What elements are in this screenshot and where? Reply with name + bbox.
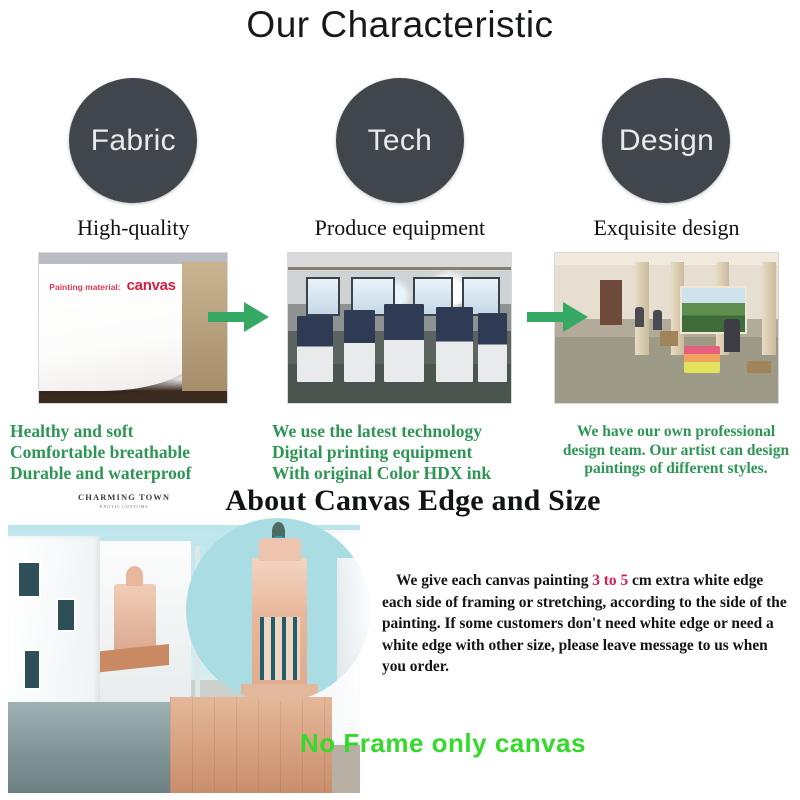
feature-description-tech: We use the latest technology Digital pri…: [272, 421, 540, 484]
no-frame-note: No Frame only canvas: [300, 728, 586, 759]
studio-artist-1: [635, 307, 644, 327]
promo-page: Our Characteristic Fabric High-quality P…: [0, 0, 800, 800]
studio-stool-2: [747, 361, 772, 373]
bubble-label-design: Design: [619, 124, 714, 158]
inset-tower-columns: [260, 617, 300, 680]
inset-right-building: [337, 558, 370, 702]
section2-header: CHARMING TOWN EXOTIC CUSTOMS About Canva…: [0, 484, 800, 524]
canvas-label-prefix: Painting material:: [49, 282, 120, 292]
edge-size-highlight: 3 to 5: [592, 572, 628, 589]
studio-pillar-4: [762, 262, 775, 355]
printer-machine-5: [478, 313, 507, 382]
arrow-right-icon-2: [527, 300, 589, 334]
canvas-edge-paragraph: We give each canvas painting 3 to 5 cm e…: [382, 570, 794, 678]
street-window-a: [17, 561, 41, 599]
printer-machine-4: [436, 307, 474, 382]
canvas-material-photo: Painting material: canvas: [38, 252, 228, 404]
printer-machine-2: [344, 310, 375, 382]
feature-description-design: We have our own professional design team…: [556, 423, 796, 479]
feature-caption-design: Exquisite design: [593, 215, 739, 241]
studio-doorway-shape: [600, 280, 622, 325]
ceiling-beam-shape: [288, 267, 511, 270]
studio-stool-1: [660, 331, 678, 346]
printer-machine-1: [297, 316, 333, 382]
page-title: Our Characteristic: [0, 4, 800, 46]
bubble-design: Design: [602, 78, 730, 203]
feature-caption-fabric: High-quality: [77, 215, 189, 241]
canvas-label-word: canvas: [127, 277, 176, 294]
printer-machine-3: [384, 304, 424, 382]
street-window-c: [23, 649, 41, 691]
feature-description-fabric: Healthy and soft Comfortable breathable …: [10, 421, 270, 484]
studio-artist-3: [724, 319, 740, 352]
feature-caption-tech: Produce equipment: [315, 215, 485, 241]
factory-window-1: [306, 277, 339, 316]
studio-paint-cart: [684, 346, 720, 373]
canvas-photo-label: Painting material: canvas: [49, 277, 175, 294]
bubble-label-tech: Tech: [368, 124, 433, 158]
inset-tower-base: [241, 684, 318, 702]
magnified-tower-detail: [186, 518, 370, 702]
studio-artist-2: [653, 310, 662, 330]
bubble-label-fabric: Fabric: [91, 124, 176, 158]
street-window-b: [56, 598, 76, 631]
bubble-tech: Tech: [336, 78, 464, 203]
printing-factory-photo: [287, 252, 512, 404]
edge-paragraph-part1: We give each canvas painting: [396, 572, 592, 589]
arrow-right-icon-1: [208, 300, 270, 334]
section2-title: About Canvas Edge and Size: [0, 484, 800, 518]
bubble-fabric: Fabric: [69, 78, 197, 203]
